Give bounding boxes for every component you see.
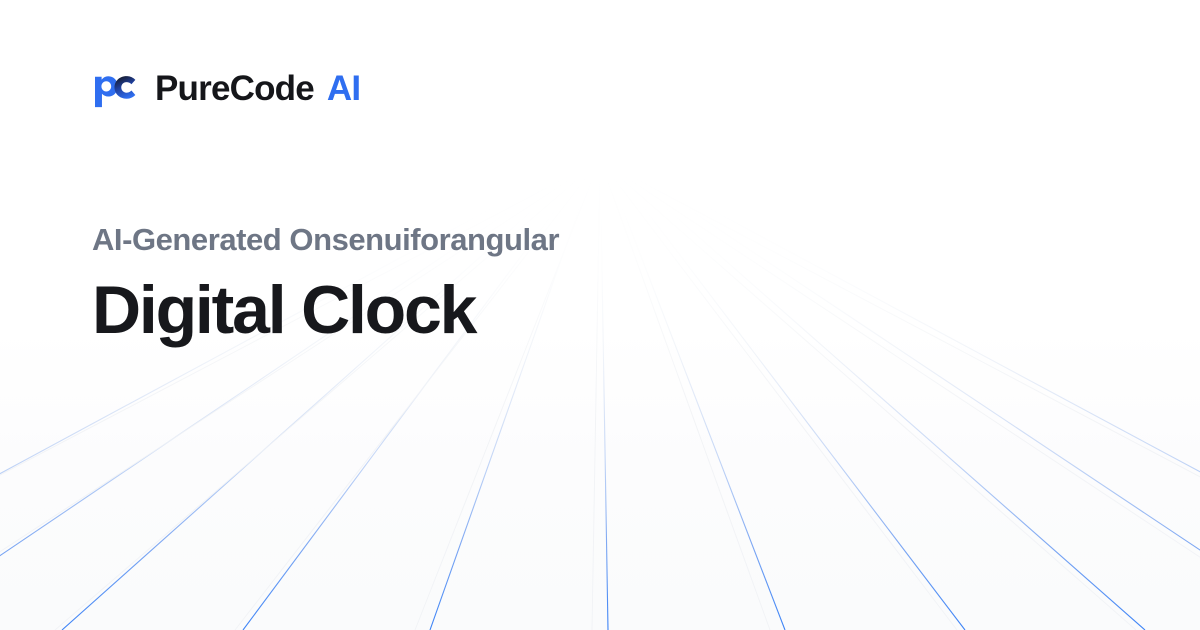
card-content: PureCode AI AI-Generated Onsenuiforangul… (0, 0, 1200, 630)
brand-suffix: AI (327, 71, 360, 106)
brand-name: PureCode (155, 71, 314, 106)
brand-lockup: PureCode AI (92, 62, 360, 114)
hero-text-block: AI-Generated Onsenuiforangular Digital C… (92, 222, 1112, 347)
hero-title: Digital Clock (92, 274, 1112, 347)
brand-wordmark: PureCode AI (155, 71, 360, 106)
og-card: PureCode AI AI-Generated Onsenuiforangul… (0, 0, 1200, 630)
purecode-pc-monogram-icon (92, 68, 138, 108)
hero-eyebrow: AI-Generated Onsenuiforangular (92, 222, 1112, 258)
